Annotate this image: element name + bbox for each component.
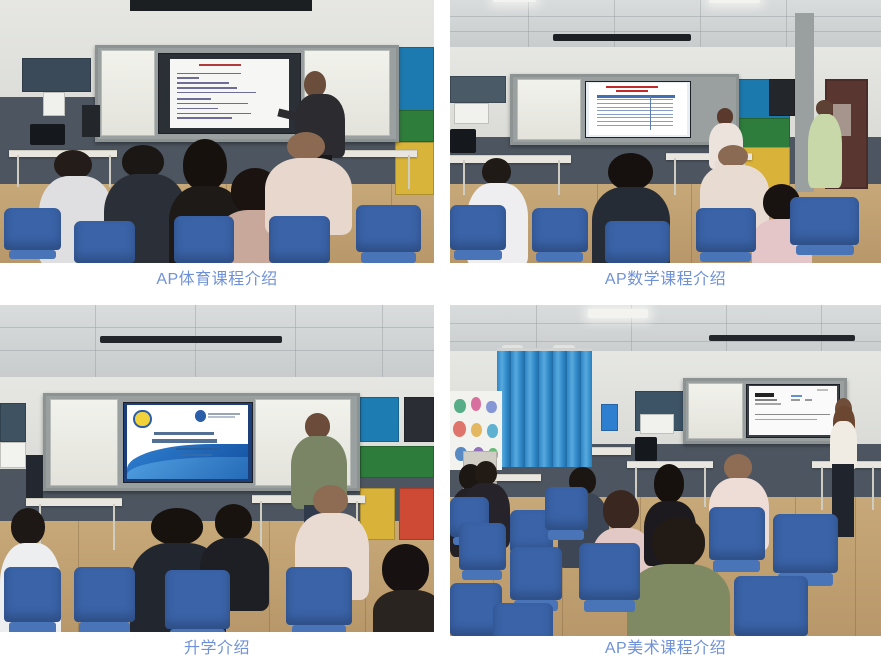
- wall-poster-green: [360, 446, 434, 479]
- projection-screen: [123, 402, 254, 483]
- chair: [734, 576, 807, 636]
- wall-poster: [450, 76, 506, 102]
- caption-admissions: 升学介绍: [0, 639, 434, 659]
- wall-poster-green: [395, 110, 434, 142]
- wall-notice: [0, 442, 26, 468]
- projection-screen: [158, 53, 301, 133]
- audience-member: [373, 544, 434, 632]
- wall-sign: [601, 404, 618, 430]
- chair: [790, 197, 859, 244]
- chair: [165, 570, 230, 629]
- chair: [74, 221, 135, 263]
- photo-ap-art[interactable]: [450, 305, 881, 636]
- chair: [286, 567, 351, 626]
- wall-poster-dark: [404, 397, 434, 443]
- chair: [493, 603, 553, 636]
- chair: [74, 567, 135, 623]
- chair: [532, 208, 588, 253]
- monitor: [30, 124, 65, 145]
- caption-ap-pe: AP体育课程介绍: [0, 270, 434, 290]
- wall-poster-red: [399, 488, 434, 540]
- wall-poster: [22, 58, 91, 92]
- chair: [696, 208, 756, 253]
- gallery-item-ap-math[interactable]: [450, 0, 881, 263]
- monitor: [450, 129, 476, 153]
- chair: [773, 514, 838, 574]
- chair: [174, 216, 235, 263]
- chair: [510, 547, 562, 600]
- gallery-item-ap-art[interactable]: [450, 305, 881, 636]
- whiteboard-frame: [95, 45, 399, 142]
- image-gallery: AP体育课程介绍: [0, 0, 881, 659]
- photo-ap-math[interactable]: [450, 0, 881, 263]
- side-desk: [592, 447, 631, 455]
- chair: [545, 487, 588, 530]
- partner-logo-icon: [195, 410, 206, 422]
- gallery-item-admissions[interactable]: [0, 305, 434, 632]
- chair: [450, 205, 506, 250]
- window-curtain: [497, 348, 592, 467]
- whiteboard-frame: [510, 74, 738, 145]
- school-crest-icon: [133, 410, 152, 429]
- chair: [605, 221, 670, 263]
- chair: [356, 205, 421, 252]
- wall-poster-dark: [769, 79, 795, 116]
- whiteboard-frame: [683, 378, 847, 444]
- caption-ap-art: AP美术课程介绍: [450, 639, 881, 659]
- caption-ap-math: AP数学课程介绍: [450, 270, 881, 290]
- wall-poster: [0, 403, 26, 442]
- monitor: [635, 437, 657, 460]
- chair: [709, 507, 765, 560]
- wall-poster-blue: [360, 397, 399, 443]
- gallery-item-ap-pe[interactable]: [0, 0, 434, 263]
- presenter-2: [808, 100, 842, 187]
- slide-path-to-university: [127, 405, 248, 479]
- ceiling-light: [493, 0, 536, 2]
- slide-about-me: [749, 386, 836, 435]
- wall-notice: [43, 92, 65, 116]
- chair: [4, 208, 60, 250]
- wall-notice: [640, 414, 674, 434]
- projection-screen: [585, 81, 692, 138]
- chair: [579, 543, 639, 599]
- ceiling-light: [709, 0, 761, 3]
- photo-admissions[interactable]: [0, 305, 434, 632]
- photo-ap-pe[interactable]: [0, 0, 434, 263]
- wall-notice: [454, 103, 488, 124]
- chair: [459, 523, 506, 569]
- chair: [269, 216, 330, 263]
- chair: [4, 567, 60, 623]
- ceiling-light: [588, 309, 648, 317]
